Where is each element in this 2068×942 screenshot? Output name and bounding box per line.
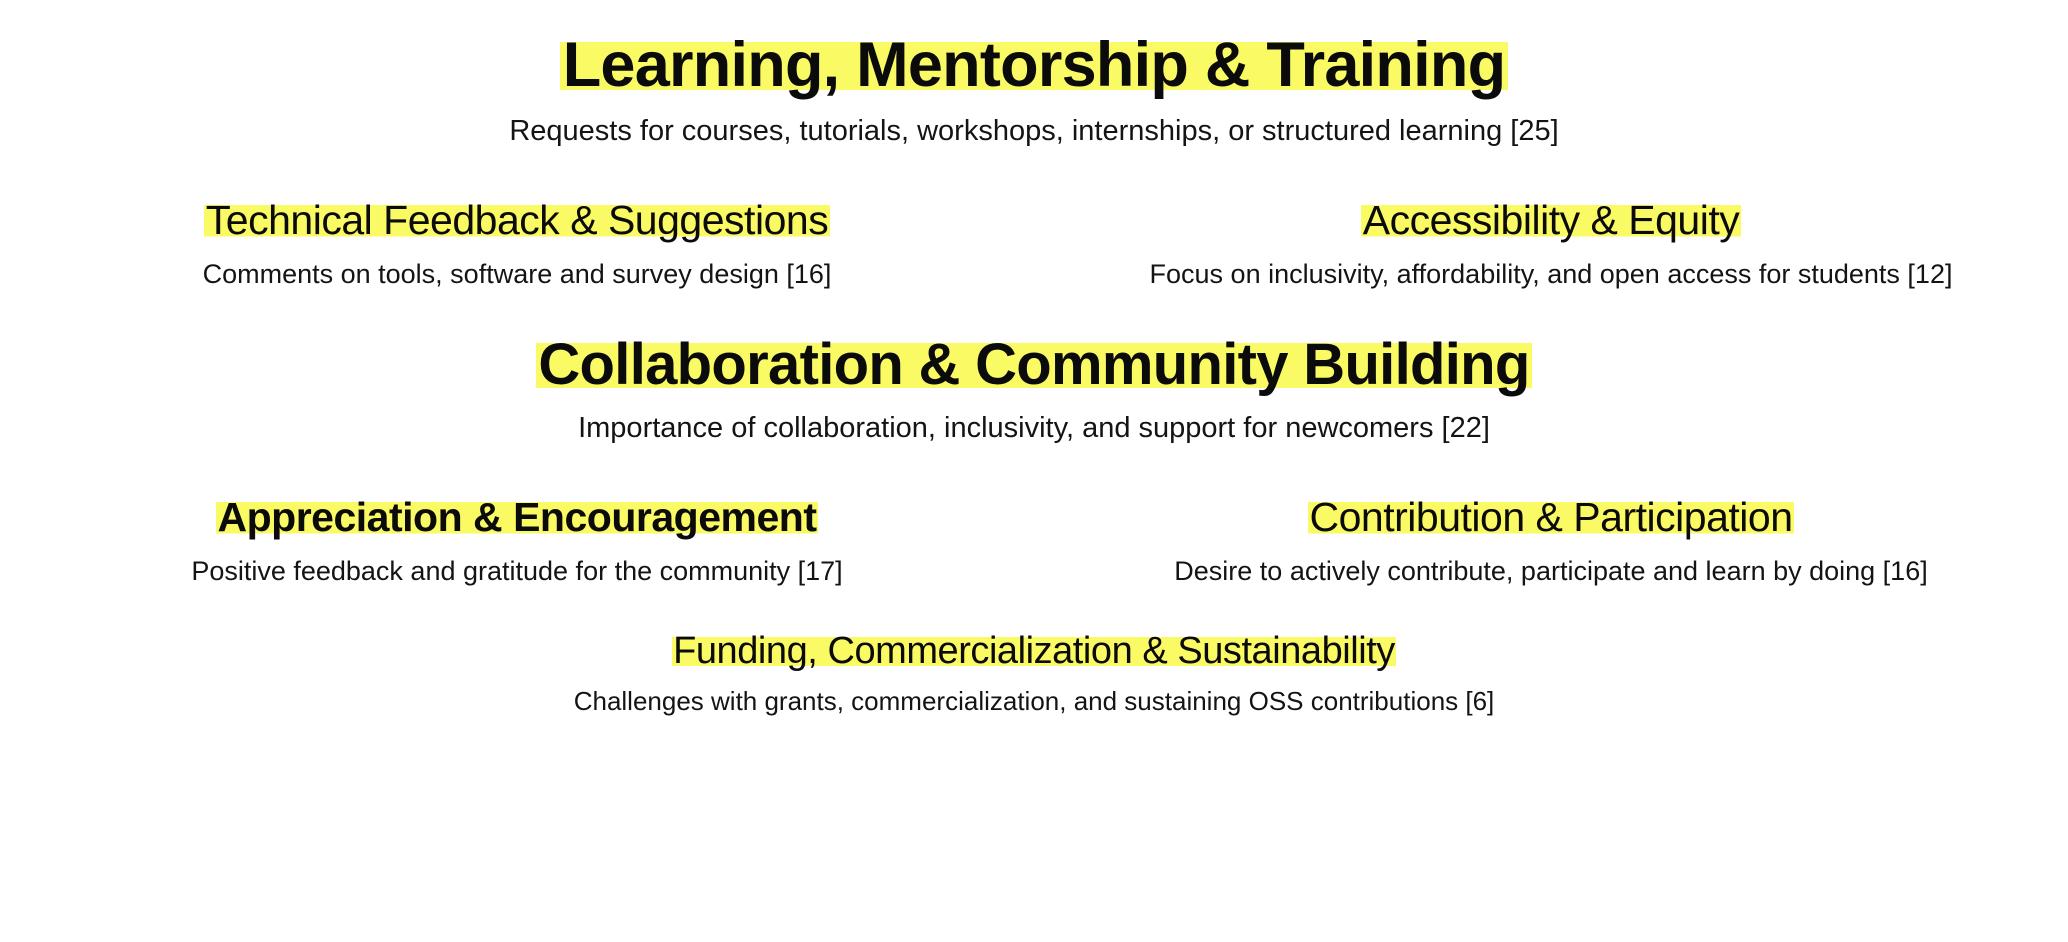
theme-title-text: Technical Feedback & Suggestions: [204, 197, 829, 243]
theme-title-text: Funding, Commercialization & Sustainabil…: [672, 630, 1396, 672]
theme-title-text: Collaboration & Community Building: [536, 332, 1531, 397]
theme-row-4: Appreciation & Encouragement Positive fe…: [0, 496, 2068, 589]
theme-block-technical-feedback-suggestions[interactable]: Technical Feedback & Suggestions Comment…: [203, 199, 832, 292]
theme-cloud: Learning, Mentorship & Training Requests…: [0, 32, 2068, 942]
theme-description: Challenges with grants, commercializatio…: [574, 685, 1495, 718]
theme-description: Focus on inclusivity, affordability, and…: [1150, 258, 1953, 292]
theme-description: Requests for courses, tutorials, worksho…: [509, 113, 1558, 149]
theme-title[interactable]: Contribution & Participation: [1308, 496, 1794, 539]
theme-row-2: Technical Feedback & Suggestions Comment…: [0, 199, 2068, 292]
theme-row-1: Learning, Mentorship & Training Requests…: [0, 32, 2068, 149]
theme-title[interactable]: Funding, Commercialization & Sustainabil…: [672, 631, 1396, 671]
theme-title-text: Contribution & Participation: [1308, 494, 1794, 540]
theme-title-text: Appreciation & Encouragement: [216, 494, 818, 540]
theme-block-funding-commercialization-sustainability[interactable]: Funding, Commercialization & Sustainabil…: [574, 631, 1495, 718]
theme-block-contribution-participation[interactable]: Contribution & Participation Desire to a…: [1174, 496, 1927, 589]
theme-column-left: Technical Feedback & Suggestions Comment…: [0, 199, 1034, 292]
theme-title[interactable]: Learning, Mentorship & Training: [560, 32, 1507, 99]
theme-block-accessibility-equity[interactable]: Accessibility & Equity Focus on inclusiv…: [1150, 199, 1953, 292]
theme-block-collaboration-community-building[interactable]: Collaboration & Community Building Impor…: [536, 334, 1531, 446]
theme-row-5: Funding, Commercialization & Sustainabil…: [0, 631, 2068, 718]
theme-column-right: Accessibility & Equity Focus on inclusiv…: [1034, 199, 2068, 292]
theme-description: Desire to actively contribute, participa…: [1174, 555, 1927, 589]
theme-column-right: Contribution & Participation Desire to a…: [1034, 496, 2068, 589]
theme-block-learning-mentorship-training[interactable]: Learning, Mentorship & Training Requests…: [509, 32, 1558, 149]
theme-row-3: Collaboration & Community Building Impor…: [0, 334, 2068, 446]
theme-title[interactable]: Collaboration & Community Building: [536, 334, 1531, 395]
theme-block-appreciation-encouragement[interactable]: Appreciation & Encouragement Positive fe…: [191, 496, 842, 589]
theme-title-text: Learning, Mentorship & Training: [560, 30, 1507, 100]
theme-title[interactable]: Appreciation & Encouragement: [216, 496, 818, 539]
theme-title[interactable]: Accessibility & Equity: [1361, 199, 1740, 242]
theme-column-left: Appreciation & Encouragement Positive fe…: [0, 496, 1034, 589]
theme-description: Importance of collaboration, inclusivity…: [578, 410, 1490, 446]
theme-description: Comments on tools, software and survey d…: [203, 258, 832, 292]
theme-title[interactable]: Technical Feedback & Suggestions: [204, 199, 829, 242]
theme-description: Positive feedback and gratitude for the …: [191, 555, 842, 589]
theme-title-text: Accessibility & Equity: [1361, 197, 1740, 243]
